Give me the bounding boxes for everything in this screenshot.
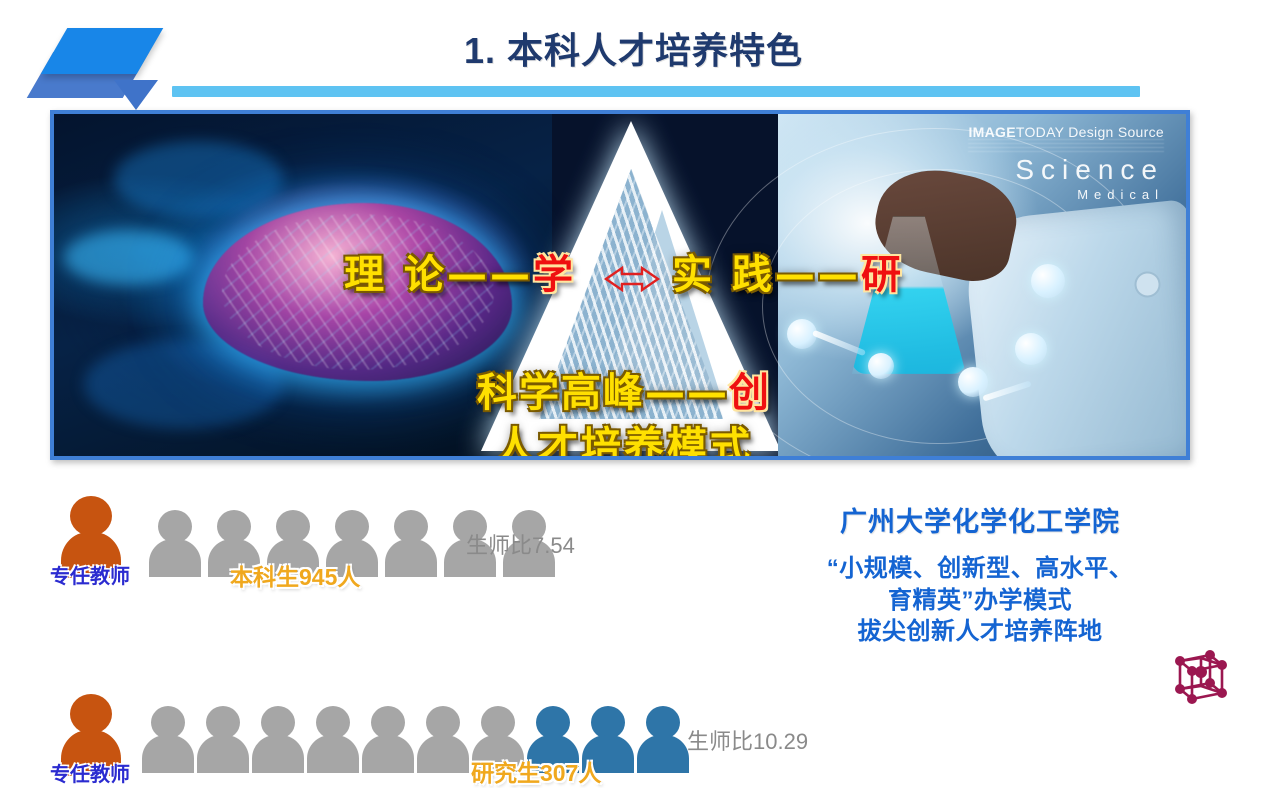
- person-gray-icon: [415, 706, 471, 770]
- person-gray-icon: [305, 706, 361, 770]
- college-motto-line2: 育精英”办学模式: [770, 585, 1190, 617]
- person-gray-icon: [360, 706, 416, 770]
- page-title: 1. 本科人才培养特色: [0, 22, 1267, 74]
- student-count-label-2: 研究生307人: [471, 754, 601, 788]
- hero-banner: IMAGETODAY Design Source Science Medical…: [50, 110, 1190, 460]
- teacher-label-1: 专任教师: [50, 560, 130, 589]
- banner-bottom-line2: 人才培养模式: [54, 414, 1190, 460]
- person-gray-icon: [250, 706, 306, 770]
- banner-overlay-text: 理 论——学 实 践——研 科学高峰——创 人才培养模式: [54, 114, 1186, 456]
- person-gray-icon: [140, 706, 196, 770]
- ratio-row-postgraduate: 专任教师 研究生307人 生师比10.29: [36, 600, 806, 700]
- person-gray-icon: [195, 706, 251, 770]
- person-blue-icon: [635, 706, 691, 770]
- ratio-label-1: 生师比7.54: [466, 528, 575, 560]
- logo-triangle-icon: [114, 80, 158, 110]
- banner-peak-text: 科学高峰——: [477, 370, 729, 416]
- banner-yan-text: 研: [861, 252, 904, 298]
- double-arrow-icon: [576, 254, 672, 300]
- student-count-label-1: 本科生945人: [230, 558, 360, 592]
- teacher-label-2: 专任教师: [50, 758, 130, 787]
- college-motto-line3: 拔尖创新人才培养阵地: [770, 616, 1190, 648]
- student-teacher-ratio-infographic: 专任教师 本科生945人 生师比7.54 专任教师: [36, 488, 806, 703]
- banner-bottom-line1: 科学高峰——创: [54, 360, 1190, 418]
- slide-root: 1. 本科人才培养特色: [0, 0, 1267, 713]
- person-gray-icon: [147, 510, 203, 574]
- ratio-row-undergraduate: 专任教师 本科生945人 生师比7.54: [36, 488, 806, 588]
- banner-xue-text: 学: [533, 252, 576, 298]
- ratio-label-2: 生师比10.29: [687, 724, 808, 756]
- banner-chuang-text: 创: [729, 370, 771, 416]
- title-underline-bar: [172, 86, 1140, 97]
- college-motto-line1: “小规模、创新型、高水平、: [770, 553, 1190, 585]
- banner-theory-text: 理 论——: [344, 252, 533, 298]
- college-info-block: 广州大学化学化工学院 “小规模、创新型、高水平、 育精英”办学模式 拔尖创新人才…: [770, 500, 1190, 648]
- banner-practice-text: 实 践——: [672, 252, 861, 298]
- crystal-lattice-icon: [1168, 643, 1234, 707]
- person-gray-icon: [383, 510, 439, 574]
- banner-top-line: 理 论——学 实 践——研: [54, 242, 1190, 300]
- college-name: 广州大学化学化工学院: [770, 500, 1190, 539]
